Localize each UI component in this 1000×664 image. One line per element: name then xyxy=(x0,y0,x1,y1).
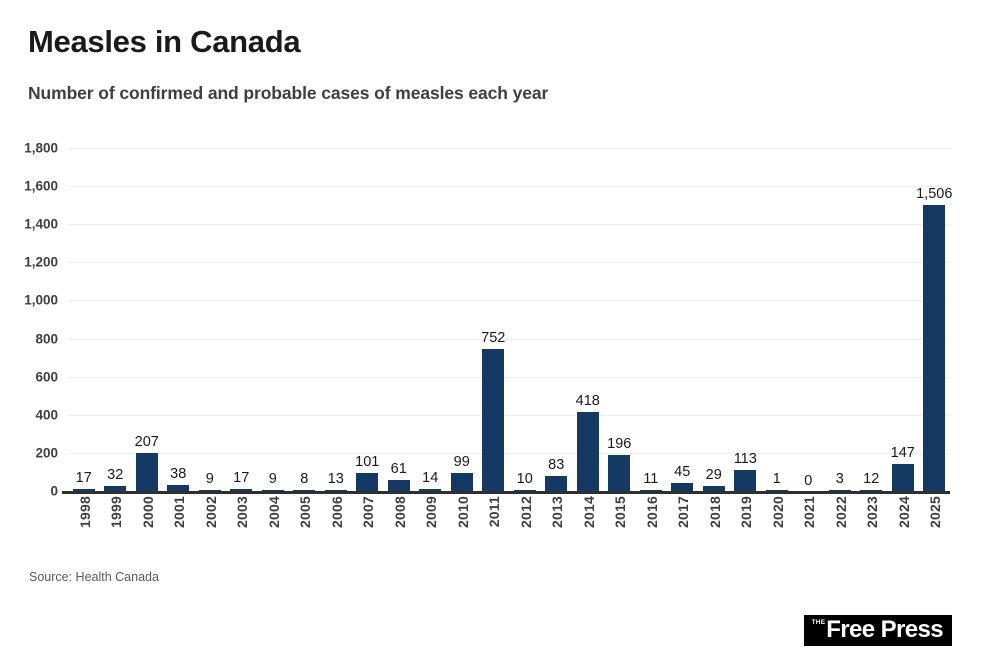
x-axis-tick-label: 2010 xyxy=(455,496,471,528)
free-press-logo: THE Free Press xyxy=(804,615,952,646)
y-axis-tick-label: 1,000 xyxy=(24,293,58,308)
bar-group[interactable]: 3 xyxy=(824,147,856,492)
x-axis-tick-label: 2018 xyxy=(707,496,723,528)
bar-group[interactable]: 12 xyxy=(856,147,888,492)
y-axis-tick-label: 0 xyxy=(50,484,58,499)
bar-value-label: 1 xyxy=(773,471,781,487)
bar-value-label: 17 xyxy=(233,470,249,486)
x-axis-tick-label: 2020 xyxy=(770,496,786,528)
bar[interactable] xyxy=(356,473,378,492)
x-axis-tick-label: 2019 xyxy=(738,496,754,528)
bar-group[interactable]: 8 xyxy=(289,147,321,492)
x-axis-tick-label: 2016 xyxy=(644,496,660,528)
bar[interactable] xyxy=(923,205,945,492)
bar-value-label: 9 xyxy=(206,471,214,487)
x-axis-tick-label: 2024 xyxy=(896,496,912,528)
x-axis-tick-label: 2001 xyxy=(171,496,187,528)
bar-value-label: 113 xyxy=(734,451,757,467)
bar-value-label: 752 xyxy=(481,330,505,346)
bar-value-label: 9 xyxy=(269,471,277,487)
bar[interactable] xyxy=(892,464,914,492)
bar-value-label: 29 xyxy=(706,467,722,483)
y-axis-tick-label: 400 xyxy=(35,407,58,422)
bar-group[interactable]: 38 xyxy=(163,147,195,492)
bar-value-label: 14 xyxy=(422,470,438,486)
bar[interactable] xyxy=(577,412,599,492)
bar-group[interactable]: 13 xyxy=(320,147,352,492)
bar-group[interactable]: 17 xyxy=(226,147,258,492)
bar-group[interactable]: 9 xyxy=(194,147,226,492)
bar-value-label: 196 xyxy=(607,436,631,452)
x-axis-tick-label: 2000 xyxy=(140,496,156,528)
bar[interactable] xyxy=(608,455,630,492)
bar-group[interactable]: 17 xyxy=(68,147,100,492)
bar[interactable] xyxy=(482,349,504,492)
bar-value-label: 8 xyxy=(300,471,308,487)
x-axis-tick-label: 2023 xyxy=(864,496,880,528)
bar-group[interactable]: 29 xyxy=(698,147,730,492)
bar-group[interactable]: 147 xyxy=(887,147,919,492)
bar-group[interactable]: 32 xyxy=(100,147,132,492)
bar-value-label: 32 xyxy=(107,467,123,483)
bar-value-label: 11 xyxy=(643,471,658,487)
bar[interactable] xyxy=(136,453,158,492)
bar-value-label: 38 xyxy=(170,466,186,482)
y-axis-tick-label: 1,600 xyxy=(24,179,58,194)
y-axis-tick-label: 800 xyxy=(35,331,58,346)
y-axis: 02004006008001,0001,2001,4001,6001,800 xyxy=(0,147,68,492)
bar[interactable] xyxy=(545,476,567,492)
bar-group[interactable]: 1 xyxy=(761,147,793,492)
source-note: Source: Health Canada xyxy=(29,570,159,584)
bar-group[interactable]: 0 xyxy=(793,147,825,492)
bar-group[interactable]: 99 xyxy=(446,147,478,492)
x-axis-tick-label: 2021 xyxy=(801,496,817,528)
page-title: Measles in Canada xyxy=(28,26,928,59)
bar-group[interactable]: 10 xyxy=(509,147,541,492)
x-axis-tick-label: 2011 xyxy=(486,496,502,527)
bar-group[interactable]: 11 xyxy=(635,147,667,492)
bar-value-label: 17 xyxy=(76,470,92,486)
x-axis-tick-label: 2022 xyxy=(833,496,849,528)
x-axis-tick-label: 2009 xyxy=(423,496,439,528)
bar-value-label: 207 xyxy=(135,434,159,450)
x-axis-tick-label: 2017 xyxy=(675,496,691,528)
bar-group[interactable]: 61 xyxy=(383,147,415,492)
bar-value-label: 1,506 xyxy=(916,186,952,202)
x-axis: 1998199920002001200220032004200520062007… xyxy=(68,496,950,558)
x-axis-tick-label: 2005 xyxy=(297,496,313,528)
x-axis-tick-label: 2013 xyxy=(549,496,565,528)
bar-group[interactable]: 101 xyxy=(352,147,384,492)
chart-header: Measles in Canada Number of confirmed an… xyxy=(28,26,928,104)
bar-value-label: 418 xyxy=(576,393,600,409)
bar-group[interactable]: 752 xyxy=(478,147,510,492)
bar-value-label: 61 xyxy=(391,461,407,477)
bar-value-label: 10 xyxy=(517,471,533,487)
bar-value-label: 3 xyxy=(836,471,844,487)
x-axis-tick-label: 2012 xyxy=(518,496,534,528)
logo-name-text: Free Press xyxy=(826,618,943,642)
bar-group[interactable]: 83 xyxy=(541,147,573,492)
bar-group[interactable]: 9 xyxy=(257,147,289,492)
bar-value-label: 0 xyxy=(804,473,812,489)
x-axis-tick-label: 2002 xyxy=(203,496,219,528)
bar-value-label: 12 xyxy=(863,471,879,487)
logo-the-text: THE xyxy=(812,620,826,627)
y-axis-tick-label: 1,200 xyxy=(24,255,58,270)
y-axis-tick-label: 200 xyxy=(35,445,58,460)
x-axis-tick-label: 2008 xyxy=(392,496,408,528)
bar-value-label: 13 xyxy=(328,471,344,487)
x-axis-tick-label: 1998 xyxy=(77,496,93,528)
chart-subtitle: Number of confirmed and probable cases o… xyxy=(28,83,928,104)
y-axis-tick-label: 1,400 xyxy=(24,217,58,232)
x-axis-tick-label: 2006 xyxy=(329,496,345,528)
y-axis-tick-label: 600 xyxy=(35,369,58,384)
x-axis-tick-label: 2014 xyxy=(581,496,597,528)
x-axis-tick-label: 2004 xyxy=(266,496,282,528)
bar-group[interactable]: 196 xyxy=(604,147,636,492)
bar-group[interactable]: 45 xyxy=(667,147,699,492)
bar[interactable] xyxy=(734,470,756,492)
bar-value-label: 147 xyxy=(891,445,915,461)
x-axis-tick-label: 2007 xyxy=(360,496,376,528)
bar-group[interactable]: 1,506 xyxy=(919,147,951,492)
bar-value-label: 101 xyxy=(355,454,379,470)
bar-value-label: 45 xyxy=(674,464,690,480)
x-axis-tick-label: 2003 xyxy=(234,496,250,528)
x-axis-tick-label: 2025 xyxy=(927,496,943,528)
chart-page: Measles in Canada Number of confirmed an… xyxy=(0,0,1000,664)
x-axis-tick-label: 2015 xyxy=(612,496,628,528)
bar-group[interactable]: 418 xyxy=(572,147,604,492)
chart-plot-area: 02004006008001,0001,2001,4001,6001,800 1… xyxy=(0,147,1000,497)
bar-series: 1732207389179813101611499752108341819611… xyxy=(68,147,950,492)
x-axis-tick-label: 1999 xyxy=(108,496,124,528)
bar-value-label: 83 xyxy=(548,457,564,473)
bar[interactable] xyxy=(451,473,473,492)
bar-group[interactable]: 207 xyxy=(131,147,163,492)
y-axis-tick-label: 1,800 xyxy=(24,141,58,156)
bar-group[interactable]: 14 xyxy=(415,147,447,492)
bar-group[interactable]: 113 xyxy=(730,147,762,492)
x-axis-baseline xyxy=(62,491,950,494)
bar-value-label: 99 xyxy=(454,454,470,470)
